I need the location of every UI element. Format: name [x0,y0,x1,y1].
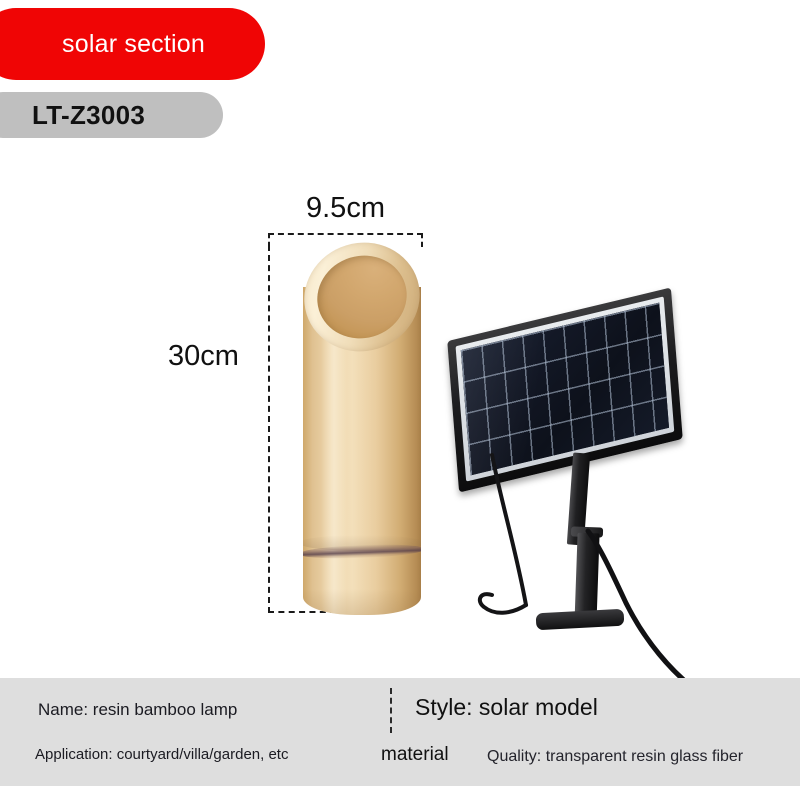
info-style-line: Style: solar model [415,694,598,721]
info-material-label: material [381,744,449,766]
solar-panel-cells [461,303,669,476]
product-image-canvas: solar section LT-Z3003 9.5cm 30cm [0,0,800,800]
cable-left-loop [480,594,526,613]
info-application-line: Application: courtyard/villa/garden, etc [35,746,288,763]
category-badge: solar section [0,8,265,80]
lamp-inner-cavity [307,245,417,350]
solar-panel-frame [447,287,683,492]
height-dimension-label: 30cm [168,340,239,373]
info-quality-line: Quality: transparent resin glass fiber [487,748,743,766]
solar-panel-backsheet [456,296,675,481]
info-name-line: Name: resin bamboo lamp [38,700,237,720]
width-dimension-label: 9.5cm [268,192,423,225]
product-info-panel: Name: resin bamboo lamp Application: cou… [0,678,800,786]
cable-right [588,531,692,685]
ground-stake-base [536,609,625,631]
solar-panel [447,287,683,492]
model-badge-label: LT-Z3003 [32,100,145,131]
info-panel-divider [390,688,392,733]
category-badge-label: solar section [62,30,205,59]
bamboo-lamp-product [303,243,421,615]
solar-panel-assembly [440,315,770,685]
model-badge: LT-Z3003 [0,92,223,138]
lamp-bottom-shading [303,589,421,615]
